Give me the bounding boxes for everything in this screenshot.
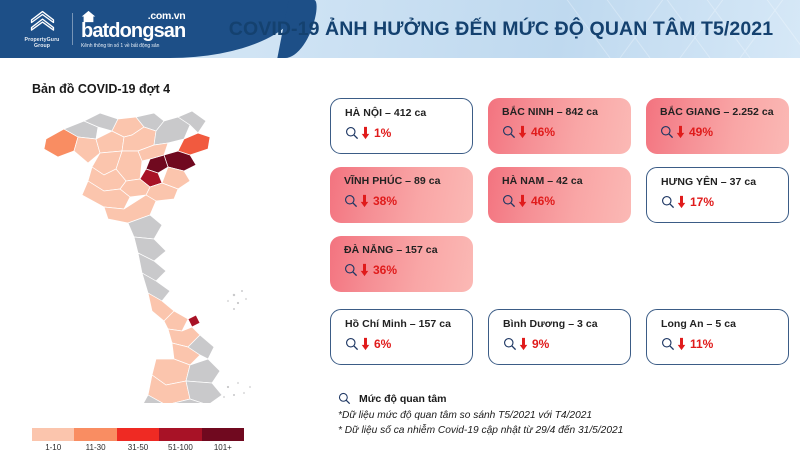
province-card-bac-giang[interactable]: BẮC GIANG – 2.252 ca 49% <box>646 98 789 154</box>
arrow-down-icon <box>360 263 369 277</box>
arrow-down-icon <box>677 337 686 351</box>
province-card-title: HÀ NỘI – 412 ca <box>345 108 472 119</box>
province-card-grid: HÀ NỘI – 412 ca 1% BẮC NINH – 842 ca 46%… <box>330 98 790 378</box>
province-card-title: BẮC NINH – 842 ca <box>502 107 631 118</box>
magnifier-icon <box>502 194 516 208</box>
province-card-ha-noi[interactable]: HÀ NỘI – 412 ca 1% <box>330 98 473 154</box>
logo-divider <box>72 13 73 45</box>
province-card-title: Hồ Chí Minh – 157 ca <box>345 319 472 330</box>
province-card-title: HƯNG YÊN – 37 ca <box>661 177 788 188</box>
province-card-binh-duong[interactable]: Bình Dương – 3 ca 9% <box>488 309 631 365</box>
footnote-case-data-period: * Dữ liệu số ca nhiễm Covid-19 cập nhật … <box>338 424 768 439</box>
footnote-interest-comparison: *Dữ liệu mức độ quan tâm so sánh T5/2021… <box>338 409 768 424</box>
map-legend-labels: 1-10 11-30 31-50 51-100 101+ <box>32 443 244 452</box>
province-card-ho-chi-minh[interactable]: Hồ Chí Minh – 157 ca 6% <box>330 309 473 365</box>
province-card-metric: 17% <box>661 195 788 209</box>
legend-swatch <box>117 428 159 441</box>
province-card-metric: 1% <box>345 126 472 140</box>
magnifier-icon <box>344 194 358 208</box>
legend-swatch <box>202 428 244 441</box>
page-title: COVID-19 ẢNH HƯỞNG ĐẾN MỨC ĐỘ QUAN TÂM T… <box>205 0 797 58</box>
province-card-percent: 36% <box>373 264 397 276</box>
vietnam-map-svg <box>38 103 268 403</box>
propertyguru-subname: Group <box>34 43 50 49</box>
province-card-percent: 49% <box>689 126 713 138</box>
legend-swatch <box>74 428 116 441</box>
province-card-long-an[interactable]: Long An – 5 ca 11% <box>646 309 789 365</box>
legend-label: 1-10 <box>32 443 74 452</box>
province-card-metric: 46% <box>502 194 631 208</box>
arrow-down-icon <box>361 337 370 351</box>
batdongsan-tagline: Kênh thông tin số 1 về bất động sản <box>81 43 185 49</box>
province-card-percent: 46% <box>531 195 555 207</box>
footer-notes: Mức độ quan tâm *Dữ liệu mức độ quan tâm… <box>338 392 768 439</box>
batdongsan-logo[interactable]: .com.vn batdongsan Kênh thông tin số 1 v… <box>81 10 185 49</box>
legend-label: 51-100 <box>159 443 201 452</box>
province-card-hung-yen[interactable]: HƯNG YÊN – 37 ca 17% <box>646 167 789 223</box>
province-card-percent: 1% <box>374 127 391 139</box>
magnifier-icon <box>660 125 674 139</box>
magnifier-icon <box>502 125 516 139</box>
province-card-percent: 38% <box>373 195 397 207</box>
card-placeholder <box>646 236 789 292</box>
province-card-da-nang[interactable]: ĐÀ NẴNG – 157 ca 36% <box>330 236 473 292</box>
province-card-metric: 9% <box>503 337 630 351</box>
province-card-vinh-phuc[interactable]: VĨNH PHÚC – 89 ca 38% <box>330 167 473 223</box>
legend-swatch <box>159 428 201 441</box>
province-card-title: Long An – 5 ca <box>661 319 788 330</box>
province-card-metric: 6% <box>345 337 472 351</box>
map-province-da-nang <box>188 315 200 327</box>
legend-swatch <box>32 428 74 441</box>
province-card-metric: 49% <box>660 125 789 139</box>
magnifier-icon <box>344 263 358 277</box>
vietnam-covid-map <box>38 103 268 403</box>
arrow-down-icon <box>519 337 528 351</box>
arrow-down-icon <box>360 194 369 208</box>
interest-level-legend: Mức độ quan tâm <box>338 392 768 405</box>
map-province <box>74 137 100 163</box>
province-card-percent: 6% <box>374 338 391 350</box>
magnifier-icon <box>503 337 517 351</box>
arrow-down-icon <box>518 194 527 208</box>
card-row: Hồ Chí Minh – 157 ca 6% Bình Dương – 3 c… <box>330 309 790 365</box>
province-card-percent: 17% <box>690 196 714 208</box>
province-card-title: Bình Dương – 3 ca <box>503 319 630 330</box>
legend-label: 101+ <box>202 443 244 452</box>
card-row: ĐÀ NẴNG – 157 ca 36% <box>330 236 790 292</box>
province-card-title: ĐÀ NẴNG – 157 ca <box>344 245 473 256</box>
legend-label: 11-30 <box>74 443 116 452</box>
province-card-percent: 9% <box>532 338 549 350</box>
province-card-title: VĨNH PHÚC – 89 ca <box>344 176 473 187</box>
province-card-title: BẮC GIANG – 2.252 ca <box>660 107 789 118</box>
arrow-down-icon <box>361 126 370 140</box>
map-legend-swatches <box>32 428 244 441</box>
batdongsan-wordmark: batdongsan <box>81 22 185 41</box>
magnifier-icon <box>345 337 359 351</box>
province-card-metric: 36% <box>344 263 473 277</box>
province-card-percent: 11% <box>690 338 713 350</box>
arrow-down-icon <box>518 125 527 139</box>
magnifier-icon <box>661 195 675 209</box>
magnifier-icon <box>661 337 675 351</box>
propertyguru-name: PropertyGuru <box>25 37 60 43</box>
province-card-metric: 11% <box>661 337 788 351</box>
legend-label: 31-50 <box>117 443 159 452</box>
map-legend: 1-10 11-30 31-50 51-100 101+ <box>32 428 244 452</box>
propertyguru-mark-icon <box>29 9 56 36</box>
propertyguru-logo[interactable]: PropertyGuru Group <box>14 9 70 50</box>
card-placeholder <box>488 236 631 292</box>
province-card-percent: 46% <box>531 126 555 138</box>
interest-level-label: Mức độ quan tâm <box>359 393 447 405</box>
magnifier-icon <box>338 392 351 405</box>
page-header: PropertyGuru Group .com.vn batdongsan Kê… <box>0 0 800 58</box>
propertyguru-wordmark: PropertyGuru Group <box>25 37 60 50</box>
province-card-metric: 38% <box>344 194 473 208</box>
magnifier-icon <box>345 126 359 140</box>
map-section-title: Bản đồ COVID-19 đợt 4 <box>32 82 170 96</box>
province-card-metric: 46% <box>502 125 631 139</box>
province-card-bac-ninh[interactable]: BẮC NINH – 842 ca 46% <box>488 98 631 154</box>
province-card-ha-nam[interactable]: HÀ NAM – 42 ca 46% <box>488 167 631 223</box>
arrow-down-icon <box>677 195 686 209</box>
arrow-down-icon <box>676 125 685 139</box>
card-row: VĨNH PHÚC – 89 ca 38% HÀ NAM – 42 ca 46%… <box>330 167 790 223</box>
province-card-title: HÀ NAM – 42 ca <box>502 176 631 187</box>
card-row: HÀ NỘI – 412 ca 1% BẮC NINH – 842 ca 46%… <box>330 98 790 154</box>
